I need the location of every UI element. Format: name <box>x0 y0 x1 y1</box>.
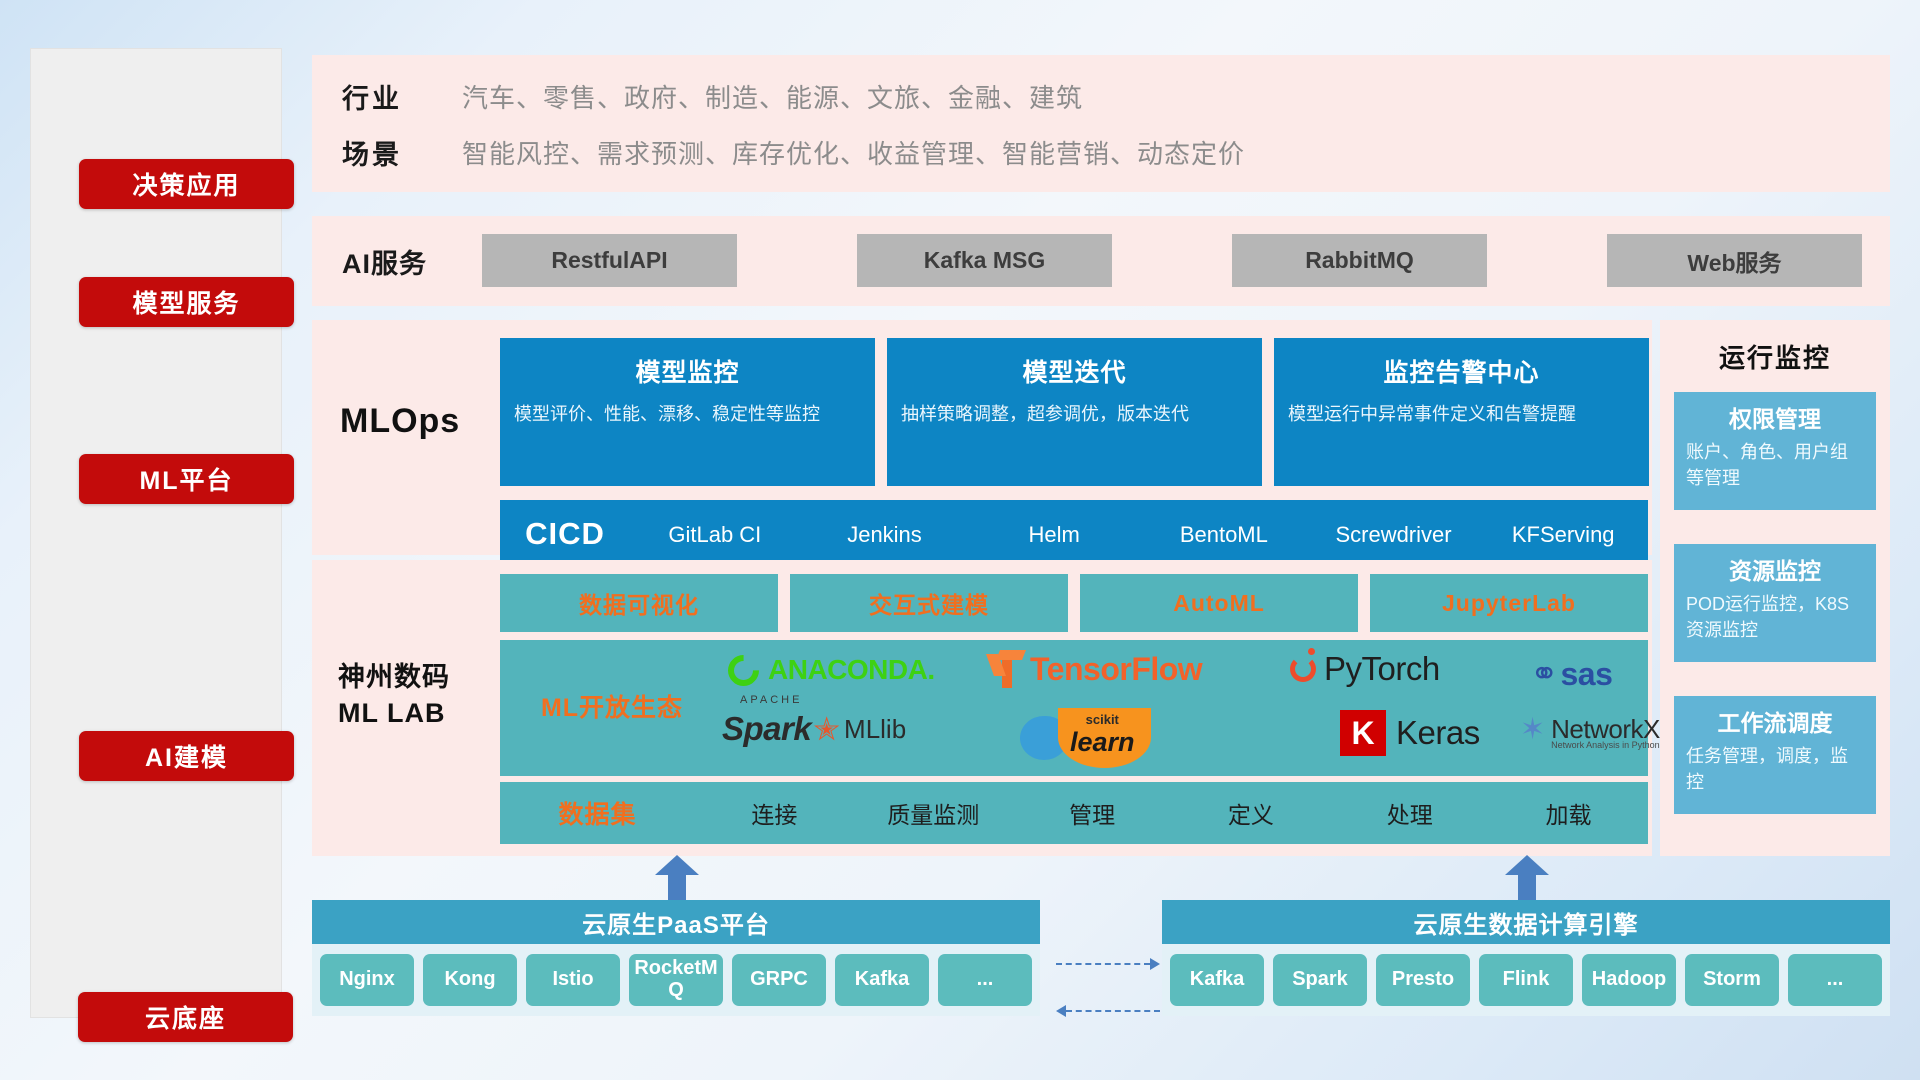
paas-title: 云原生PaaS平台 <box>312 900 1040 944</box>
engine-chip-presto[interactable]: Presto <box>1376 954 1470 1006</box>
mlops-card-title: 模型监控 <box>514 353 861 389</box>
mlops-card-model-iteration[interactable]: 模型迭代 抽样策略调整，超参调优，版本迭代 <box>887 338 1262 486</box>
tensorflow-logo: TensorFlow <box>990 650 1202 688</box>
lab-tab-interactive-modeling[interactable]: 交互式建模 <box>790 574 1068 632</box>
monitoring-card-desc: 账户、角色、用户组等管理 <box>1686 440 1864 491</box>
monitoring-card-desc: POD运行监控，K8S资源监控 <box>1686 592 1864 643</box>
layer-tag-model-service[interactable]: 模型服务 <box>79 277 294 327</box>
dataset-item-process[interactable]: 处理 <box>1330 796 1489 830</box>
monitoring-card-title: 资源监控 <box>1686 552 1864 586</box>
ai-service-band: AI服务 RestfulAPI Kafka MSG RabbitMQ Web服务 <box>312 216 1890 306</box>
ml-lab-label-line2: ML LAB <box>338 696 508 732</box>
engine-chip-hadoop[interactable]: Hadoop <box>1582 954 1676 1006</box>
learn-label: learn <box>1070 727 1135 758</box>
mllib-label: MLlib <box>844 714 906 745</box>
engine-chip-tray: Kafka Spark Presto Flink Hadoop Storm ..… <box>1162 944 1890 1016</box>
tensorflow-icon <box>990 650 1024 688</box>
spark-mllib-logo: APACHE Spark ✭ MLlib <box>722 710 906 748</box>
cicd-item-helm[interactable]: Helm <box>969 521 1139 547</box>
scikit-orange-blob-icon: scikit learn <box>1058 708 1151 768</box>
dataset-item-load[interactable]: 加载 <box>1489 796 1648 830</box>
application-band: 行业 汽车、零售、政府、制造、能源、文旅、金融、建筑 场景 智能风控、需求预测、… <box>312 55 1890 192</box>
tensorflow-label: TensorFlow <box>1030 651 1202 688</box>
anaconda-logo: ANACONDA. <box>728 654 935 686</box>
ai-service-label: AI服务 <box>342 242 462 281</box>
sas-logo: ⚭ sas <box>1530 654 1612 694</box>
spark-star-icon: ✭ <box>813 710 840 748</box>
engine-chip-flink[interactable]: Flink <box>1479 954 1573 1006</box>
paas-chip-istio[interactable]: Istio <box>526 954 620 1006</box>
dataset-label: 数据集 <box>500 795 695 831</box>
networkx-logo: ✶ NetworkX Network Analysis in Python <box>1520 712 1660 747</box>
anaconda-label: ANACONDA. <box>768 654 935 686</box>
engine-chip-storm[interactable]: Storm <box>1685 954 1779 1006</box>
sas-label: sas <box>1561 656 1613 693</box>
dataset-item-connect[interactable]: 连接 <box>695 796 854 830</box>
engine-title: 云原生数据计算引擎 <box>1162 900 1890 944</box>
mlops-card-alert-center[interactable]: 监控告警中心 模型运行中异常事件定义和告警提醒 <box>1274 338 1649 486</box>
lab-tab-data-visualization[interactable]: 数据可视化 <box>500 574 778 632</box>
ai-service-chip-rabbitmq[interactable]: RabbitMQ <box>1232 234 1487 287</box>
pytorch-label: PyTorch <box>1324 650 1440 688</box>
ml-open-ecosystem-label: ML开放生态 <box>522 688 702 724</box>
dashed-arrow-right-icon <box>1056 958 1160 970</box>
layer-rail: 决策应用 模型服务 ML平台 AI建模 <box>30 48 282 1018</box>
pytorch-icon <box>1290 656 1316 682</box>
ml-lab-band: 神州数码 ML LAB 数据可视化 交互式建模 AutoML JupyterLa… <box>312 560 1652 856</box>
industry-values: 汽车、零售、政府、制造、能源、文旅、金融、建筑 <box>462 78 1083 115</box>
data-compute-engine: 云原生数据计算引擎 Kafka Spark Presto Flink Hadoo… <box>1162 900 1890 1016</box>
mlops-card-desc: 模型评价、性能、漂移、稳定性等监控 <box>514 401 861 427</box>
layer-tag-cloud-base[interactable]: 云底座 <box>78 992 293 1042</box>
application-row-scenario: 场景 智能风控、需求预测、库存优化、收益管理、智能营销、动态定价 <box>312 133 1245 172</box>
cicd-label: CICD <box>500 516 630 552</box>
paas-chip-grpc[interactable]: GRPC <box>732 954 826 1006</box>
cicd-item-jenkins[interactable]: Jenkins <box>800 521 970 547</box>
mlops-label: MLOps <box>340 402 490 441</box>
pytorch-logo: PyTorch <box>1290 650 1440 688</box>
layer-tag-ml-platform[interactable]: ML平台 <box>79 454 294 504</box>
keras-label: Keras <box>1396 714 1480 752</box>
ai-service-chip-restfulapi[interactable]: RestfulAPI <box>482 234 737 287</box>
cicd-item-screwdriver[interactable]: Screwdriver <box>1309 521 1479 547</box>
monitoring-title: 运行监控 <box>1660 338 1890 375</box>
layer-tag-decision[interactable]: 决策应用 <box>79 159 294 209</box>
spark-apache-label: APACHE <box>740 694 802 706</box>
scenario-values: 智能风控、需求预测、库存优化、收益管理、智能营销、动态定价 <box>462 134 1245 171</box>
paas-chip-kafka[interactable]: Kafka <box>835 954 929 1006</box>
cicd-bar: CICD GitLab CI Jenkins Helm BentoML Scre… <box>500 500 1648 568</box>
mlops-card-title: 监控告警中心 <box>1288 353 1635 389</box>
ai-service-chip-kafka-msg[interactable]: Kafka MSG <box>857 234 1112 287</box>
dataset-item-define[interactable]: 定义 <box>1171 796 1330 830</box>
mlops-card-title: 模型迭代 <box>901 353 1248 389</box>
lab-tab-automl[interactable]: AutoML <box>1080 574 1358 632</box>
monitoring-card-permission[interactable]: 权限管理 账户、角色、用户组等管理 <box>1674 392 1876 510</box>
dashed-arrow-left-icon <box>1056 1005 1160 1017</box>
lab-tab-jupyterlab[interactable]: JupyterLab <box>1370 574 1648 632</box>
keras-icon: K <box>1340 710 1386 756</box>
architecture-diagram: 决策应用 模型服务 ML平台 AI建模 云底座 行业 汽车、零售、政府、制造、能… <box>0 0 1920 1080</box>
ml-lab-label-line1: 神州数码 <box>338 660 508 696</box>
paas-chip-nginx[interactable]: Nginx <box>320 954 414 1006</box>
monitoring-card-workflow[interactable]: 工作流调度 任务管理，调度，监控 <box>1674 696 1876 814</box>
dataset-item-manage[interactable]: 管理 <box>1013 796 1172 830</box>
monitoring-card-desc: 任务管理，调度，监控 <box>1686 744 1864 795</box>
networkx-icon: ✶ <box>1520 712 1545 747</box>
industry-label: 行业 <box>312 77 462 116</box>
mlops-card-desc: 抽样策略调整，超参调优，版本迭代 <box>901 401 1248 427</box>
keras-logo: K Keras <box>1340 710 1480 756</box>
cicd-item-bentoml[interactable]: BentoML <box>1139 521 1309 547</box>
mlops-band: MLOps 模型监控 模型评价、性能、漂移、稳定性等监控 模型迭代 抽样策略调整… <box>312 320 1652 555</box>
ml-lab-label: 神州数码 ML LAB <box>338 660 508 731</box>
cicd-item-gitlab-ci[interactable]: GitLab CI <box>630 521 800 547</box>
scikit-label: scikit <box>1070 712 1135 727</box>
engine-chip-kafka[interactable]: Kafka <box>1170 954 1264 1006</box>
dataset-item-quality[interactable]: 质量监测 <box>854 796 1013 830</box>
scikit-learn-logo: scikit learn <box>1020 708 1151 768</box>
engine-chip-more[interactable]: ... <box>1788 954 1882 1006</box>
paas-chip-rocketmq[interactable]: RocketMQ <box>629 954 723 1006</box>
mlops-card-model-monitoring[interactable]: 模型监控 模型评价、性能、漂移、稳定性等监控 <box>500 338 875 486</box>
dataset-bar: 数据集 连接 质量监测 管理 定义 处理 加载 <box>500 782 1648 844</box>
anaconda-icon <box>722 648 766 692</box>
monitoring-card-title: 权限管理 <box>1686 400 1864 434</box>
networkx-tagline: Network Analysis in Python <box>1551 740 1660 750</box>
application-row-industry: 行业 汽车、零售、政府、制造、能源、文旅、金融、建筑 <box>312 77 1083 116</box>
monitoring-panel: 运行监控 权限管理 账户、角色、用户组等管理 资源监控 POD运行监控，K8S资… <box>1660 320 1890 856</box>
paas-chip-tray: Nginx Kong Istio RocketMQ GRPC Kafka ... <box>312 944 1040 1016</box>
cicd-item-kfserving[interactable]: KFServing <box>1478 521 1648 547</box>
paas-chip-kong[interactable]: Kong <box>423 954 517 1006</box>
ml-open-ecosystem-panel: ML开放生态 ANACONDA. TensorFlow <box>500 640 1648 776</box>
sas-icon: ⚭ <box>1530 654 1559 694</box>
spark-label: Spark <box>722 710 811 747</box>
paas-up-arrow-icon <box>655 855 699 903</box>
engine-up-arrow-icon <box>1505 855 1549 903</box>
mlops-card-desc: 模型运行中异常事件定义和告警提醒 <box>1288 401 1635 427</box>
keras-mark: K <box>1351 715 1374 752</box>
layer-tag-ai-modeling[interactable]: AI建模 <box>79 731 294 781</box>
scenario-label: 场景 <box>312 133 462 172</box>
paas-platform: 云原生PaaS平台 Nginx Kong Istio RocketMQ GRPC… <box>312 900 1040 1016</box>
monitoring-card-title: 工作流调度 <box>1686 704 1864 738</box>
paas-chip-more[interactable]: ... <box>938 954 1032 1006</box>
engine-chip-spark[interactable]: Spark <box>1273 954 1367 1006</box>
monitoring-card-resource[interactable]: 资源监控 POD运行监控，K8S资源监控 <box>1674 544 1876 662</box>
ai-service-chip-web-service[interactable]: Web服务 <box>1607 234 1862 287</box>
